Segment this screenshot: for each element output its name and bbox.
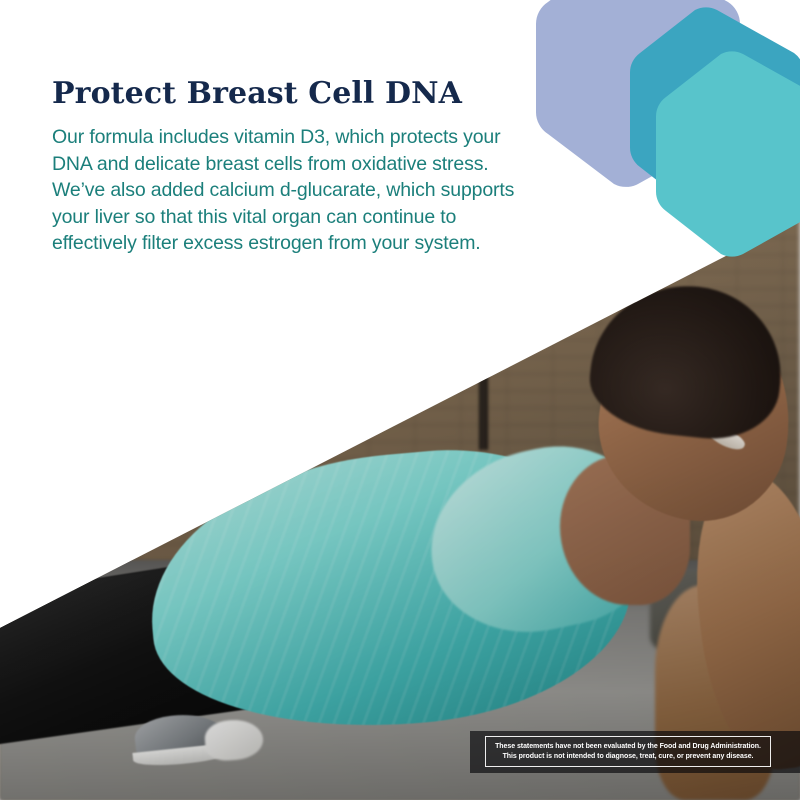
body-line: effectively filter excess estrogen from … xyxy=(52,230,592,257)
body-line: your liver so that this vital organ can … xyxy=(52,204,592,231)
body-line: Our formula includes vitamin D3, which p… xyxy=(52,124,592,151)
body-line: We’ve also added calcium d-glucarate, wh… xyxy=(52,177,592,204)
fda-disclaimer-line-2: This product is not intended to diagnose… xyxy=(503,752,754,762)
hexagon-teal-dark-icon xyxy=(626,6,800,214)
copy-block: Protect Breast Cell DNA Our formula incl… xyxy=(52,74,592,257)
body-copy: Our formula includes vitamin D3, which p… xyxy=(52,124,592,257)
fda-disclaimer: These statements have not been evaluated… xyxy=(485,736,771,767)
background-pole xyxy=(479,300,488,450)
product-benefit-banner: Protect Breast Cell DNA Our formula incl… xyxy=(0,0,800,800)
fda-disclaimer-line-1: These statements have not been evaluated… xyxy=(495,742,761,752)
hexagon-teal-light-icon xyxy=(652,50,800,258)
body-line: DNA and delicate breast cells from oxida… xyxy=(52,151,592,178)
page-title: Protect Breast Cell DNA xyxy=(52,74,592,114)
